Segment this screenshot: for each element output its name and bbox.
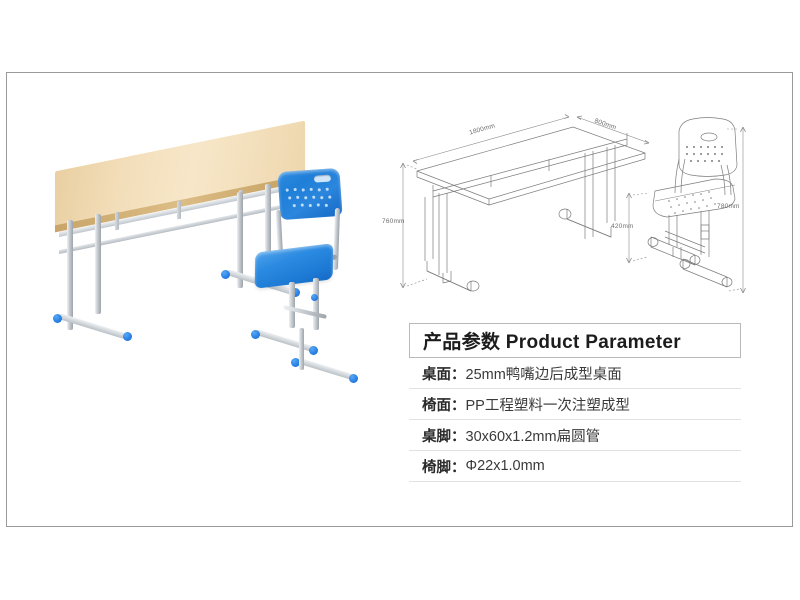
technical-drawing-svg bbox=[387, 113, 787, 328]
school-desk-and-chair-photo bbox=[37, 128, 387, 428]
parameter-value: 30x60x1.2mm扁圆管 bbox=[466, 425, 601, 446]
desk-foot-cap bbox=[53, 314, 62, 323]
chair-foot-cap bbox=[309, 346, 318, 355]
desk-leg-front-left bbox=[67, 220, 73, 330]
product-parameter-block: 产品参数 Product Parameter 桌面： 25mm鸭嘴边后成型桌面 … bbox=[409, 323, 749, 482]
parameter-value: 25mm鸭嘴边后成型桌面 bbox=[466, 363, 622, 384]
parameter-value: PP工程塑料一次注塑成型 bbox=[466, 394, 630, 415]
chair-foot-right bbox=[295, 357, 356, 381]
parameter-row-desktop: 桌面： 25mm鸭嘴边后成型桌面 bbox=[409, 358, 741, 389]
chair-backrest bbox=[277, 168, 342, 220]
desk-foot-cap bbox=[123, 332, 132, 341]
dimension-label-chair-seat-height: 420mm bbox=[611, 223, 634, 230]
student-chair-photo bbox=[233, 170, 353, 420]
chair-foot-cap bbox=[349, 374, 358, 383]
parameter-key: 椅脚： bbox=[422, 456, 466, 477]
parameter-row-desk-legs: 桌脚： 30x60x1.2mm扁圆管 bbox=[409, 420, 741, 451]
technical-drawing: 1800mm 800mm 760mm 420mm 780mm bbox=[387, 113, 787, 328]
chair-column-left bbox=[289, 282, 295, 328]
parameter-key: 椅面： bbox=[422, 394, 466, 415]
parameter-key: 桌面： bbox=[422, 363, 466, 384]
chair-foot-cap bbox=[251, 330, 260, 339]
parameter-key: 桌脚： bbox=[422, 425, 466, 446]
chair-height-adjust-knob bbox=[311, 294, 318, 301]
product-parameter-title: 产品参数 Product Parameter bbox=[423, 327, 681, 354]
chair-foot-left bbox=[255, 329, 316, 353]
desk-leg-rear-left bbox=[95, 214, 101, 314]
parameter-row-chair-seat: 椅面： PP工程塑料一次注塑成型 bbox=[409, 389, 741, 420]
dimension-label-desk-height: 760mm bbox=[382, 218, 405, 225]
chair-handle-slot bbox=[314, 175, 331, 183]
desk-drawing-geometry bbox=[417, 127, 645, 291]
product-parameter-title-box: 产品参数 Product Parameter bbox=[409, 323, 741, 358]
chair-back-post-right bbox=[333, 208, 340, 270]
desk-rail-divider bbox=[115, 212, 119, 231]
parameter-value: Φ22x1.0mm bbox=[466, 458, 545, 474]
desk-foot-cap bbox=[221, 270, 230, 279]
dimension-label-chair-total-height: 780mm bbox=[717, 203, 740, 210]
chair-base-spine bbox=[299, 328, 304, 370]
image-content-frame: 1800mm 800mm 760mm 420mm 780mm 产品参数 Prod… bbox=[6, 72, 793, 527]
desk-rail-divider bbox=[177, 201, 181, 220]
chair-column-right bbox=[313, 278, 319, 330]
chair-backrest-vent-dots bbox=[286, 185, 335, 210]
parameter-row-chair-legs: 椅脚： Φ22x1.0mm bbox=[409, 451, 741, 482]
